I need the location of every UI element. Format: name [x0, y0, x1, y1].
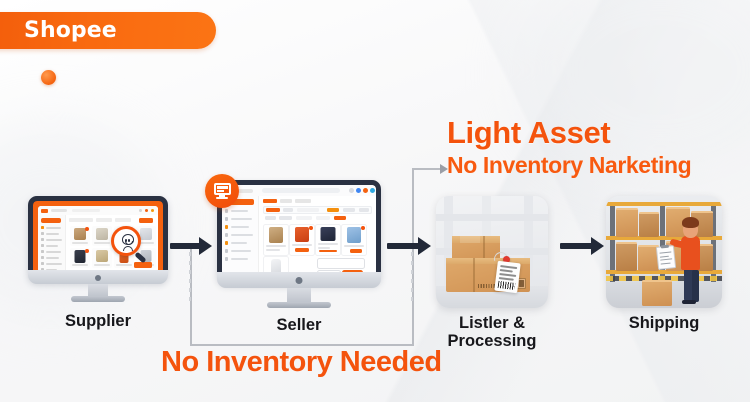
- product-progress: [319, 250, 337, 252]
- seller-filter-chip[interactable]: [279, 216, 292, 219]
- box-handling-icon: [519, 280, 524, 287]
- product-action-button[interactable]: [350, 249, 362, 253]
- supplier-topbar-dot-3: [151, 209, 154, 212]
- floor-box: [642, 280, 672, 306]
- box-stamp: [478, 284, 495, 288]
- orange-dot-icon: [41, 70, 56, 85]
- worker-torso: [681, 236, 700, 270]
- supplier-product-card[interactable]: [92, 226, 112, 246]
- badge-monitor-line-2: [217, 190, 224, 192]
- arrow-shaft: [560, 243, 593, 249]
- seller-filter-chip[interactable]: [283, 208, 293, 211]
- tag-line: [499, 273, 516, 277]
- product-caption: [266, 249, 280, 251]
- warehouse-beam: [436, 214, 548, 221]
- seller-filter-input[interactable]: [297, 208, 319, 211]
- brand-name: Shopee: [24, 18, 117, 43]
- seller-sidebar-item[interactable]: [225, 249, 255, 253]
- arrow-supplier-to-seller: [170, 236, 212, 256]
- clipboard-line: [660, 255, 669, 257]
- product-badge: [309, 226, 313, 230]
- badge-monitor-foot: [216, 197, 228, 199]
- seller-topbar-dot-1: [349, 188, 354, 193]
- tag-line: [500, 269, 513, 272]
- seller-sidebar-item[interactable]: [225, 241, 255, 245]
- arrow-seller-to-listing: [387, 236, 431, 256]
- rack-shelf: [606, 202, 722, 206]
- monitor-badge-icon: [205, 174, 239, 208]
- seller-filter-row-1[interactable]: [263, 206, 372, 214]
- arrow-shaft: [387, 243, 420, 249]
- product-thumb: [96, 250, 108, 262]
- product-caption: [318, 243, 338, 245]
- supplier-sidebar-row: [41, 262, 62, 265]
- product-thumb: [75, 250, 86, 263]
- face-body: [123, 246, 133, 251]
- arrow-listing-to-shipping: [560, 236, 604, 256]
- supplier-filter-chip: [115, 218, 131, 222]
- seller-topbar-dot-2: [356, 188, 361, 193]
- supplier-action-button[interactable]: [139, 218, 153, 223]
- seller-apply-button[interactable]: [334, 216, 346, 219]
- product-thumb: [321, 227, 336, 241]
- supplier-sidebar-row: [41, 256, 62, 259]
- supplier-topbar-dot-2: [145, 209, 148, 212]
- seller-main-panel: [259, 196, 376, 279]
- face-head: [122, 234, 134, 245]
- flow-node-label-supplier: Supplier: [65, 312, 131, 330]
- supplier-topbar-line: [51, 209, 67, 212]
- listing-photo-card: [436, 196, 548, 308]
- worker-shoe: [682, 300, 696, 304]
- arrow-shaft: [170, 243, 201, 249]
- listing-label-line2: Processing: [448, 332, 537, 350]
- supplier-product-card[interactable]: [70, 226, 90, 246]
- product-action-button[interactable]: [295, 248, 309, 252]
- product-caption: [266, 245, 286, 247]
- shelf-box: [639, 212, 659, 237]
- clipboard-line: [660, 258, 672, 261]
- seller-filter-chip[interactable]: [266, 208, 280, 211]
- supplier-monitor-chin: [28, 270, 168, 284]
- seller-tab[interactable]: [280, 199, 292, 203]
- connector-bypass-dash-left: [189, 252, 191, 304]
- seller-filter-chip[interactable]: [359, 208, 369, 211]
- shipping-tag: [494, 261, 520, 294]
- tag-barcode: [498, 281, 516, 290]
- magnifier-ring: [111, 226, 141, 256]
- seller-monitor-chin: [217, 272, 381, 288]
- seller-monitor-power-dot: [296, 277, 303, 284]
- product-badge: [85, 227, 89, 231]
- infographic-canvas: Shopee Light Asset No Inventory Narketin…: [0, 0, 750, 402]
- clipboard-line: [659, 251, 671, 254]
- seller-filter-chip[interactable]: [343, 208, 355, 211]
- seller-monitor-bezel: [217, 180, 381, 284]
- flow-node-supplier[interactable]: Supplier: [28, 196, 168, 336]
- connector-bypass-dash-right: [411, 252, 413, 304]
- seller-monitor: [217, 180, 381, 300]
- seller-sidebar-item[interactable]: [225, 225, 255, 229]
- worker-clipboard: [656, 245, 676, 270]
- box-flap: [460, 236, 480, 243]
- box-seam: [473, 258, 475, 292]
- magnifier-with-face-icon: [111, 226, 151, 266]
- product-caption: [292, 244, 312, 246]
- listing-label-line1: Listler &: [448, 314, 537, 332]
- badge-monitor-line-1: [217, 186, 228, 189]
- product-thumb: [96, 228, 108, 240]
- flow-node-label-shipping: Shipping: [629, 314, 700, 332]
- seller-secondary-row[interactable]: [317, 258, 365, 269]
- seller-sidebar-item[interactable]: [225, 209, 255, 213]
- product-caption: [94, 264, 110, 266]
- supplier-monitor-base: [71, 296, 125, 302]
- seller-sidebar: [222, 196, 259, 279]
- flow-node-listing[interactable]: Listler & Processing: [436, 196, 548, 346]
- product-badge: [85, 249, 89, 253]
- clipboard-clip: [661, 245, 669, 249]
- supplier-sidebar-row: [41, 244, 62, 247]
- seller-sidebar-item[interactable]: [225, 233, 255, 237]
- shopee-brand-banner: Shopee: [0, 12, 216, 49]
- product-caption: [72, 242, 88, 244]
- product-caption: [72, 264, 88, 266]
- seller-topbar-dot-4: [370, 188, 375, 193]
- seller-filter-row-2[interactable]: [263, 215, 372, 221]
- seller-tab-bar[interactable]: [263, 199, 323, 203]
- worker-leg-back: [692, 270, 699, 302]
- magnifier-handle: [134, 252, 146, 264]
- supplier-product-card[interactable]: [70, 248, 90, 268]
- product-caption: [318, 247, 330, 249]
- magnifier-face: [120, 234, 135, 250]
- shelf-box: [616, 242, 637, 271]
- seller-product-card[interactable]: [315, 224, 341, 256]
- product-thumb: [295, 227, 309, 242]
- headline-line1: Light Asset: [447, 117, 747, 149]
- supplier-filter-chip: [69, 218, 93, 222]
- seller-product-card[interactable]: [289, 224, 315, 256]
- shipping-photo-card: [606, 196, 722, 308]
- arrow-head: [591, 237, 604, 255]
- seller-screen: [222, 185, 376, 279]
- tag-line: [500, 265, 517, 269]
- supplier-app-logo-icon: [41, 209, 48, 213]
- supplier-sidebar-row: [41, 232, 62, 235]
- seller-search-input[interactable]: [262, 188, 340, 193]
- seller-filter-chip[interactable]: [316, 216, 330, 219]
- headline-block: Light Asset No Inventory Narketing: [447, 117, 747, 178]
- product-thumb: [347, 227, 361, 243]
- product-caption: [94, 242, 110, 244]
- supplier-topbar-search: [72, 209, 100, 212]
- seller-filter-chip[interactable]: [265, 216, 276, 219]
- seller-tab[interactable]: [295, 199, 311, 203]
- supplier-sidebar-row: [41, 226, 62, 229]
- shelf-box: [616, 208, 638, 237]
- product-thumb: [269, 227, 283, 243]
- flow-node-label-seller: Seller: [277, 316, 322, 334]
- supplier-sidebar: [38, 215, 66, 272]
- supplier-filter-chip: [96, 218, 112, 222]
- flow-node-label-listing: Listler & Processing: [448, 314, 537, 351]
- seller-dashboard: [222, 185, 376, 279]
- flow-node-seller[interactable]: Seller: [211, 180, 381, 340]
- connector-listing-to-headline-arrowhead: [440, 164, 448, 174]
- clipboard-line: [661, 262, 671, 264]
- headline-line2: No Inventory Narketing: [447, 153, 747, 179]
- seller-sidebar-item[interactable]: [225, 217, 255, 221]
- seller-monitor-base: [267, 302, 331, 308]
- product-badge: [361, 226, 365, 230]
- tag-line: [499, 277, 514, 280]
- supplier-product-card[interactable]: [92, 248, 112, 268]
- supplier-topbar-dot-1: [139, 209, 142, 212]
- supplier-sidebar-header: [41, 218, 61, 223]
- worker-hair: [682, 217, 699, 228]
- face-smile: [125, 241, 133, 245]
- bottom-headline: No Inventory Needed: [161, 346, 442, 379]
- seller-filter-chip[interactable]: [327, 208, 339, 211]
- flow-node-shipping[interactable]: Shipping: [606, 196, 722, 346]
- seller-tab-active[interactable]: [263, 199, 277, 203]
- seller-product-card[interactable]: [341, 224, 367, 256]
- seller-sidebar-item[interactable]: [225, 257, 255, 261]
- badge-monitor-glyph: [214, 183, 231, 199]
- seller-filter-chip[interactable]: [296, 216, 312, 219]
- supplier-sidebar-row: [41, 250, 62, 253]
- supplier-sidebar-row: [41, 238, 62, 241]
- connector-listing-to-headline-horizontal: [412, 168, 442, 170]
- seller-product-card[interactable]: [263, 224, 289, 256]
- seller-topbar-dot-3: [363, 188, 368, 193]
- supplier-monitor-power-dot: [95, 275, 101, 281]
- arrow-head: [418, 237, 431, 255]
- product-caption: [344, 245, 364, 247]
